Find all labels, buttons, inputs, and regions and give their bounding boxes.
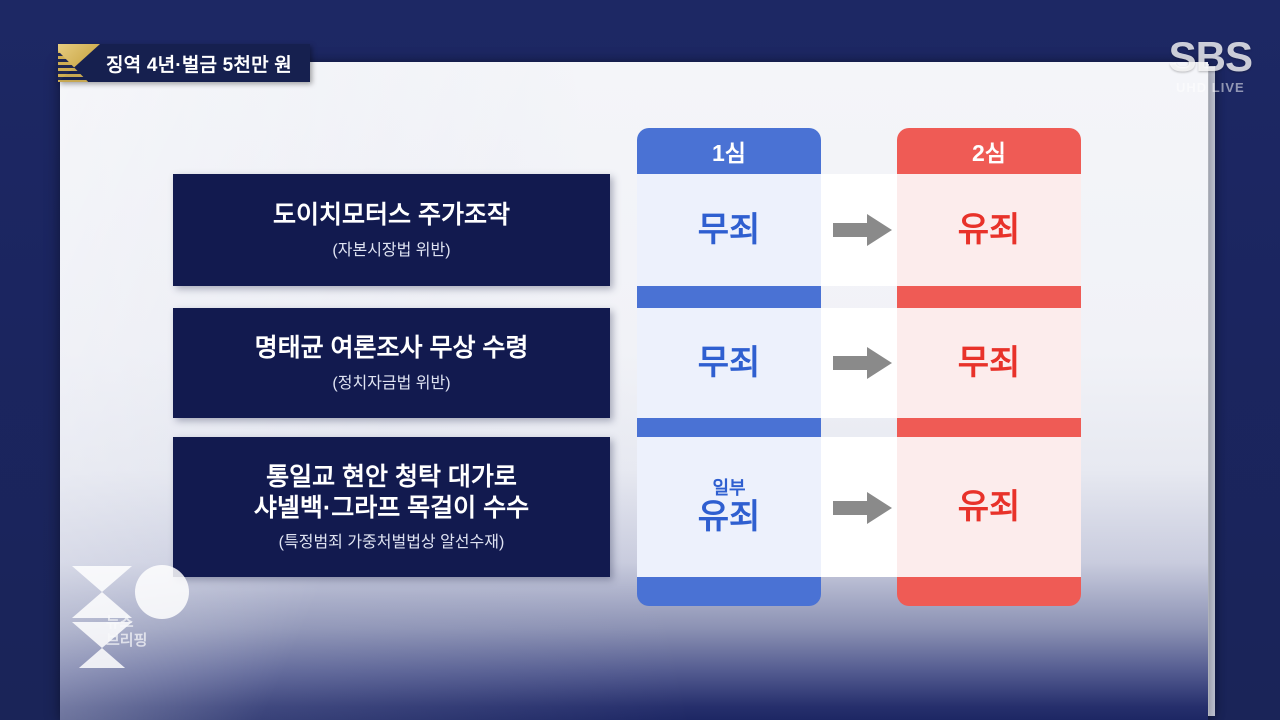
case-subtitle-row-2: (정치자금법 위반) bbox=[332, 369, 450, 393]
case-title-row-3-line-1: 통일교 현안 청탁 대가로 bbox=[266, 462, 517, 493]
column-header-second-instance: 2심 bbox=[897, 128, 1081, 174]
verdict-qualifier-row-3-first: 일부 bbox=[712, 479, 745, 497]
bug-label: 뉴스 브리핑 bbox=[106, 614, 147, 651]
verdict-row-1-first: 무죄 bbox=[637, 174, 821, 286]
arrow-right-icon-row-2 bbox=[827, 343, 899, 383]
verdict-value-row-1-first: 무죄 bbox=[698, 212, 761, 249]
headline-bar: 징역 4년·벌금 5천만 원 bbox=[58, 44, 310, 82]
arrow-right-icon-row-3 bbox=[827, 488, 899, 528]
verdict-row-3-first: 일부 유죄 bbox=[637, 437, 821, 577]
case-label-row-3: 통일교 현안 청탁 대가로 샤넬백·그라프 목걸이 수수 (특정범죄 가중처벌법… bbox=[173, 437, 610, 577]
bowtie-top-icon bbox=[72, 566, 132, 592]
verdict-value-row-2-first: 무죄 bbox=[698, 345, 761, 382]
case-title-row-2: 명태균 여론조사 무상 수령 bbox=[255, 333, 529, 364]
verdict-row-2-second: 무죄 bbox=[897, 308, 1081, 418]
gold-corner-icon bbox=[58, 44, 100, 82]
verdict-value-row-2-second: 무죄 bbox=[958, 345, 1021, 382]
bug-label-line-2: 브리핑 bbox=[106, 632, 147, 650]
verdict-value-row-3-first: 유죄 bbox=[698, 499, 761, 536]
bug-label-line-1: 뉴스 bbox=[106, 614, 147, 632]
case-subtitle-row-1: (자본시장법 위반) bbox=[332, 236, 450, 260]
circle-icon bbox=[135, 565, 189, 619]
case-title-row-3-line-2: 샤넬백·그라프 목걸이 수수 bbox=[254, 493, 529, 524]
verdict-value-row-1-second: 유죄 bbox=[958, 212, 1021, 249]
broadcast-graphic: 징역 4년·벌금 5천만 원 SBS UHD LIVE 1심 2심 도이치모터스… bbox=[0, 0, 1280, 720]
verdict-row-2-first: 무죄 bbox=[637, 308, 821, 418]
case-label-row-2: 명태균 여론조사 무상 수령 (정치자금법 위반) bbox=[173, 308, 610, 418]
verdict-value-row-3-second: 유죄 bbox=[958, 489, 1021, 526]
headline-text: 징역 4년·벌금 5천만 원 bbox=[100, 50, 292, 77]
case-subtitle-row-3: (특정범죄 가중처벌법상 알선수재) bbox=[279, 528, 505, 552]
news-briefing-bug: 뉴스 브리핑 bbox=[68, 560, 208, 668]
arrow-right-icon-row-1 bbox=[827, 210, 899, 250]
verdict-row-1-second: 유죄 bbox=[897, 174, 1081, 286]
sbs-uhd-live-label: UHD LIVE bbox=[1169, 80, 1252, 95]
sbs-logo: SBS UHD LIVE bbox=[1169, 36, 1252, 95]
verdict-row-3-second: 유죄 bbox=[897, 437, 1081, 577]
case-title-row-1: 도이치모터스 주가조작 bbox=[273, 200, 510, 231]
sbs-wordmark: SBS bbox=[1169, 36, 1252, 78]
case-label-row-1: 도이치모터스 주가조작 (자본시장법 위반) bbox=[173, 174, 610, 286]
column-header-first-instance: 1심 bbox=[637, 128, 821, 174]
